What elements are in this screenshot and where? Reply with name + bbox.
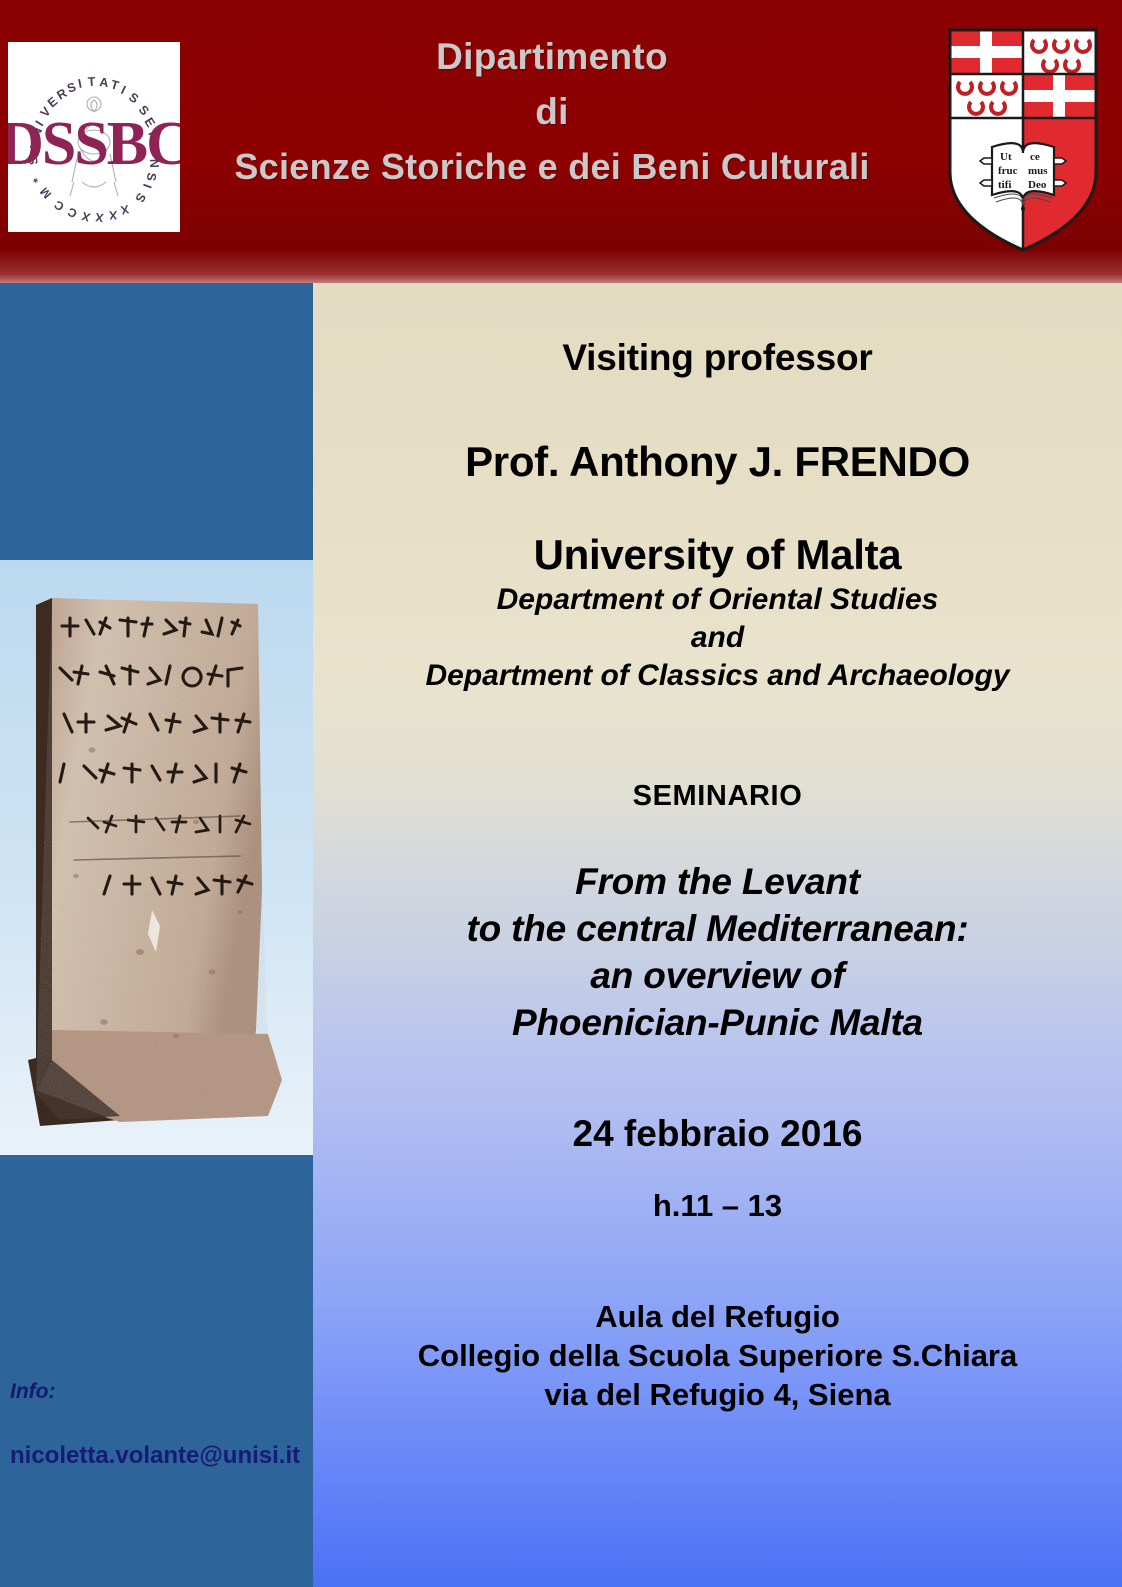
department-two: Department of Classics and Archaeology xyxy=(313,659,1122,693)
svg-text:A: A xyxy=(99,75,110,90)
dssbc-logo-icon: U N I V E R S I T A T I S S E N E xyxy=(8,42,180,232)
speaker-name: Prof. Anthony J. FRENDO xyxy=(313,438,1122,486)
phoenician-stele-image xyxy=(0,560,313,1155)
event-time: h.11 – 13 xyxy=(313,1188,1122,1224)
venue-line2: Collegio della Scuola Superiore S.Chiara xyxy=(313,1337,1122,1376)
department-title: Dipartimento di Scienze Storiche e dei B… xyxy=(182,30,922,193)
crest-motto-6: Deo xyxy=(1028,179,1047,191)
department-one: Department of Oriental Studies xyxy=(313,583,1122,617)
svg-text:DSSBC: DSSBC xyxy=(8,110,180,178)
dssbc-logo: U N I V E R S I T A T I S S E N E xyxy=(8,42,180,232)
university-crest: Ut fruc tifi ce mus Deo xyxy=(938,22,1108,254)
department-title-line3: Scienze Storiche e dei Beni Culturali xyxy=(182,140,922,193)
venue-line1: Aula del Refugio xyxy=(313,1298,1122,1337)
talk-title-line3: an overview of xyxy=(313,953,1122,1000)
department-title-line1: Dipartimento xyxy=(182,30,922,85)
crest-motto-5: mus xyxy=(1028,165,1048,177)
event-date: 24 febbraio 2016 xyxy=(313,1113,1122,1155)
main-content: Visiting professor Prof. Anthony J. FREN… xyxy=(313,283,1122,1587)
crest-motto-2: fruc xyxy=(998,165,1018,177)
info-label: Info: xyxy=(10,1380,340,1404)
stele-photo xyxy=(0,560,313,1155)
role-line: Visiting professor xyxy=(313,337,1122,379)
talk-title-line4: Phoenician-Punic Malta xyxy=(313,1000,1122,1047)
svg-text:T: T xyxy=(87,75,96,89)
seminar-poster: U N I V E R S I T A T I S S E N E xyxy=(0,0,1122,1587)
crest-motto-1: Ut xyxy=(1000,151,1012,163)
institution: University of Malta xyxy=(313,531,1122,579)
left-sidebar: Info: nicoletta.volante@unisi.it xyxy=(0,283,313,1587)
talk-title-line1: From the Levant xyxy=(313,859,1122,906)
contact-info: Info: nicoletta.volante@unisi.it xyxy=(10,1380,340,1470)
info-email[interactable]: nicoletta.volante@unisi.it xyxy=(10,1442,340,1470)
talk-title: From the Levant to the central Mediterra… xyxy=(313,859,1122,1047)
conjunction: and xyxy=(313,621,1122,655)
svg-text:X: X xyxy=(109,208,117,222)
event-venue: Aula del Refugio Collegio della Scuola S… xyxy=(313,1298,1122,1414)
talk-title-line2: to the central Mediterranean: xyxy=(313,906,1122,953)
department-title-line2: di xyxy=(182,85,922,140)
venue-line3: via del Refugio 4, Siena xyxy=(313,1376,1122,1415)
header-band: U N I V E R S I T A T I S S E N E xyxy=(0,0,1122,283)
event-type: SEMINARIO xyxy=(313,780,1122,813)
crest-motto-3: tifi xyxy=(998,179,1011,191)
crest-motto-4: ce xyxy=(1030,151,1040,163)
university-crest-icon: Ut fruc tifi ce mus Deo xyxy=(938,22,1108,254)
